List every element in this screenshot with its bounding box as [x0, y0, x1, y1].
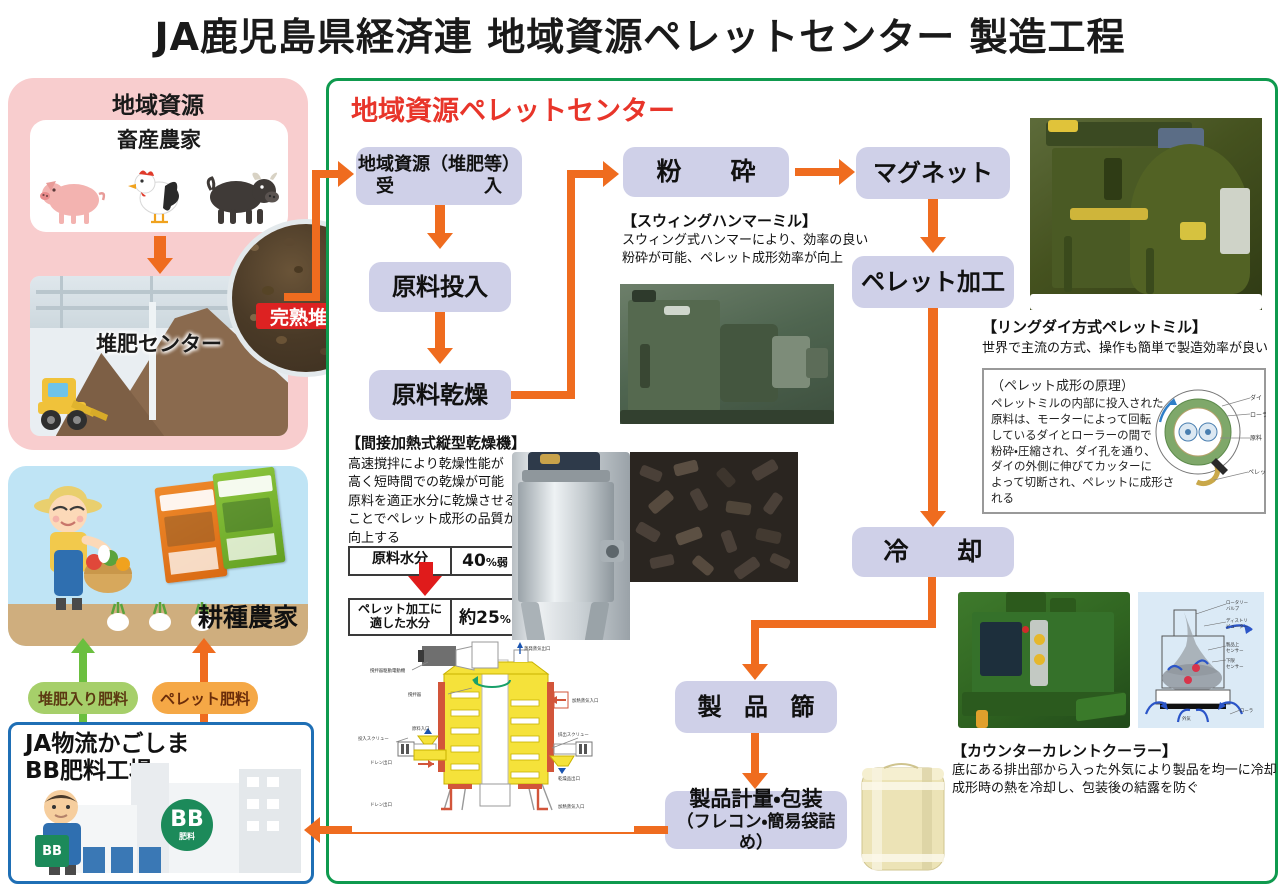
process-crush-label: 粉 砕: [644, 157, 767, 187]
arrow-pellet-fert-head: [192, 638, 216, 653]
moisture-row-target: ペレット加工に適した水分 約25%: [348, 598, 520, 636]
pellet-mill-heading: 【リングダイ方式ペレットミル】: [982, 316, 1207, 337]
schem-label-agitator: 撹拌器: [408, 691, 422, 698]
dryer-body-line4: ことでペレット成形の品質が: [348, 511, 524, 529]
process-box-magnet[interactable]: マグネット: [856, 147, 1010, 199]
arrow-dry-to-crush-head: [603, 161, 619, 187]
dryer-body-line3: 原料を適正水分に乾燥させる: [348, 493, 524, 511]
page-title: JA鹿児島県経済連 地域資源ペレットセンター 製造工程: [0, 6, 1280, 61]
moisture-target-label: ペレット加工に適した水分: [350, 600, 450, 634]
svg-text:ロータリー: ロータリー: [1226, 599, 1248, 606]
cow-icon: [202, 170, 280, 226]
diagram-label-die: ダイ: [1250, 394, 1262, 402]
farmer-icon: [20, 480, 132, 612]
process-box-pack[interactable]: 製品計量・包装 （フレコン・簡易袋詰め）: [665, 791, 847, 849]
wheel-loader-icon: [36, 360, 122, 432]
arrow-cool-to-screen-v1: [928, 577, 936, 624]
schem-label-steam-inlet2: 加熱蒸気入口: [558, 803, 584, 810]
svg-text:製品上: 製品上: [1226, 641, 1240, 648]
arrow-screen-to-pack-stem: [751, 733, 759, 775]
cooler-schematic: ロータリーバルブ ディストリビューター 製品上センサー 下限センサー ローラ 外…: [1138, 592, 1264, 728]
moisture-target-value: 約25%: [450, 600, 518, 634]
svg-text:下限: 下限: [1226, 657, 1235, 664]
process-magnet-label: マグネット: [873, 159, 993, 188]
diagram-label-material: 原料: [1250, 434, 1262, 442]
principle-line5: ダイの外側に伸びてカッターに: [991, 459, 1175, 475]
process-receive-line1: 地域資源（堆肥等）: [358, 154, 520, 176]
principle-line1: ペレットミルの内部に投入された: [991, 396, 1175, 412]
svg-text:バルブ: バルブ: [1226, 605, 1240, 612]
svg-text:ローラ: ローラ: [1240, 708, 1253, 714]
process-dry-label: 原料乾燥: [392, 381, 488, 410]
arrow-pack-to-factory-head: [304, 817, 320, 843]
bb-logo: BB 肥料: [161, 799, 213, 851]
svg-text:センサー: センサー: [1226, 648, 1244, 654]
process-pack-line1: 製品計量・包装: [689, 787, 822, 812]
animal-icon-group: [30, 152, 288, 226]
pig-icon: [38, 170, 110, 226]
bb-factory-title-line1: JA物流かごしま: [25, 731, 189, 758]
arrow-livestock-to-compost-stem: [154, 236, 166, 260]
svg-text:外気: 外気: [1182, 715, 1191, 722]
arrow-crush-to-magnet-stem: [795, 168, 839, 176]
arrow-charge-to-dry-stem: [435, 312, 445, 350]
moisture-raw-value: 40%弱: [450, 548, 518, 574]
svg-text:センサー: センサー: [1226, 664, 1244, 670]
hammer-mill-body: スウィング式ハンマーにより、効率の良い 粉砕が可能、ペレット成形効率が向上: [622, 232, 868, 269]
diagram-label-roller: ローラー: [1250, 412, 1266, 419]
crop-farmer-panel: 耕種農家: [8, 466, 308, 646]
livestock-farmer-card: 畜産農家: [30, 120, 288, 232]
arrow-dry-to-crush-v: [567, 170, 575, 399]
process-box-charge[interactable]: 原料投入: [369, 262, 511, 312]
arrow-charge-to-dry-head: [427, 348, 453, 364]
moisture-row-raw: 原料水分 40%弱: [348, 546, 520, 576]
hammer-mill-body-line1: スウィング式ハンマーにより、効率の良い: [622, 232, 868, 250]
dryer-heading: 【間接加熱式縦型乾燥機】: [346, 432, 526, 453]
pellet-center-title: 地域資源ペレットセンター: [351, 89, 675, 128]
livestock-farmer-label: 畜産農家: [30, 124, 288, 154]
arrow-dry-to-crush-h: [511, 391, 575, 399]
principle-line2: 原料は、モーターによって回転: [991, 412, 1175, 428]
dryer-body-line2: 高く短時間での乾燥が可能: [348, 474, 524, 492]
dryer-photo: [512, 452, 630, 644]
diagram-label-pellet: ペレット: [1248, 469, 1266, 476]
moisture-red-arrow-head: [408, 576, 442, 596]
arrow-pellet-to-cool-stem: [928, 308, 938, 513]
arrow-receive-to-charge-head: [427, 233, 453, 249]
pill-pellet-fertilizer: ペレット肥料: [152, 682, 258, 714]
arrow-compost-to-center-v: [312, 170, 320, 301]
chicken-icon: [125, 166, 187, 226]
schem-label-infeed-screw: 投入スクリュー: [358, 735, 389, 742]
crop-farmer-label: 耕種農家: [198, 598, 298, 634]
svg-text:BB: BB: [42, 844, 62, 859]
schem-label-vapor-outlet: 蒸発蒸気出口: [524, 645, 550, 652]
schem-label-material-inlet: 原料入口: [412, 725, 430, 732]
bb-fertilizer-factory-panel: JA物流かごしま BB肥料工場 BB 肥料 BB: [8, 722, 314, 884]
principle-line4: 粉砕・圧縮され、ダイ孔を通り、: [991, 444, 1175, 460]
process-pack-line2: （フレコン・簡易袋詰め）: [665, 812, 847, 853]
process-box-crush[interactable]: 粉 砕: [623, 147, 789, 197]
arrow-livestock-to-compost-head: [147, 258, 173, 274]
bb-logo-main: BB: [170, 809, 204, 831]
schem-label-steam-inlet1: 加熱蒸気入口: [572, 697, 598, 704]
pellet-mill-photo: [1030, 118, 1262, 310]
local-resources-title: 地域資源: [8, 86, 308, 120]
process-cool-label: 冷 却: [871, 537, 994, 567]
hammer-mill-heading: 【スウィングハンマーミル】: [622, 210, 817, 231]
schem-label-outfeed-screw: 排出スクリュー: [558, 731, 589, 738]
schem-label-motor: 撹拌器駆動電動機: [370, 667, 406, 674]
pellet-mill-body-line1: 世界で主流の方式、操作も簡単で製造効率が良い: [982, 340, 1268, 358]
principle-line3: しているダイとローラーの間で: [991, 428, 1175, 444]
arrow-cool-to-screen-h: [751, 620, 936, 628]
cooler-body-line2: 成形時の熱を冷却し、包装後の結露を防ぐ: [952, 780, 1277, 798]
hammer-mill-photo: [620, 284, 834, 424]
schem-label-drain1: ドレン出口: [370, 759, 392, 766]
arrow-cool-to-screen-v2: [751, 620, 759, 666]
arrow-magnet-to-pellet-head: [920, 237, 946, 253]
pellet-product-photo: [630, 452, 798, 582]
dryer-body-line1: 高速撹拌により乾燥性能が: [348, 456, 524, 474]
cooler-body-line1: 底にある排出部から入った外気により製品を均一に冷却: [952, 762, 1277, 780]
arrow-cool-to-screen-head: [742, 664, 768, 680]
arrow-magnet-to-pellet-stem: [928, 199, 938, 239]
cooler-photo: [958, 592, 1130, 728]
svg-text:ディストリ: ディストリ: [1226, 617, 1248, 624]
process-box-receive[interactable]: 地域資源（堆肥等） 受 入: [356, 147, 522, 205]
arrow-dry-to-crush-h2: [567, 170, 603, 178]
arrow-receive-to-charge-stem: [435, 205, 445, 235]
process-box-cool[interactable]: 冷 却: [852, 527, 1014, 577]
schem-label-drain2: ドレン出口: [370, 801, 392, 808]
process-box-pelletize[interactable]: ペレット加工: [852, 256, 1014, 308]
schem-label-dry-outlet: 乾燥品出口: [558, 775, 580, 782]
process-receive-line2: 受 入: [367, 176, 511, 198]
arrow-compost-to-center-h2: [312, 170, 338, 178]
process-box-dry[interactable]: 原料乾燥: [369, 370, 511, 420]
pellet-principle-box: （ペレット成形の原理） ペレットミルの内部に投入された 原料は、モーターによって…: [982, 368, 1266, 514]
ring-die-diagram: ダイ ローラー 原料 ペレット: [1152, 376, 1266, 508]
dryer-body: 高速撹拌により乾燥性能が 高く短時間での乾燥が可能 原料を適正水分に乾燥させる …: [348, 456, 524, 548]
moisture-table: 原料水分 40%弱 ペレット加工に適した水分 約25%: [348, 546, 520, 644]
pill-compost-fertilizer: 堆肥入り肥料: [28, 682, 138, 714]
process-charge-label: 原料投入: [392, 273, 488, 302]
worker-icon: BB: [27, 787, 105, 877]
process-screen-label: 製 品 篩: [691, 693, 822, 722]
pellet-mill-body: 世界で主流の方式、操作も簡単で製造効率が良い: [982, 340, 1268, 358]
process-pelletize-label: ペレット加工: [861, 268, 1005, 297]
bb-logo-sub: 肥料: [179, 833, 195, 841]
cooler-body: 底にある排出部から入った外気により製品を均一に冷却 成形時の熱を冷却し、包装後の…: [952, 762, 1277, 799]
arrow-crush-to-magnet-head: [839, 159, 855, 185]
moisture-raw-label: 原料水分: [350, 548, 450, 574]
arrow-compost-fert-head: [71, 638, 95, 653]
principle-line6: よって切断され、ペレットに成形される: [991, 475, 1175, 507]
hammer-mill-body-line2: 粉砕が可能、ペレット成形効率が向上: [622, 250, 868, 268]
arrow-pellet-fert-stem-top: [200, 652, 208, 682]
cooler-heading: 【カウンターカレントクーラー】: [952, 740, 1177, 761]
arrow-compost-to-center-head: [338, 161, 354, 187]
pellet-principle-text: ペレットミルの内部に投入された 原料は、モーターによって回転 しているダイとロー…: [991, 396, 1175, 507]
arrow-pellet-to-cool-head: [920, 511, 946, 527]
dryer-schematic: 撹拌器駆動電動機 撹拌器 投入スクリュー 原料入口 ドレン出口 ドレン出口 蒸発…: [352, 640, 634, 832]
fertilizer-bag-right: [212, 467, 285, 570]
flexible-container-bag-photo: [856, 762, 950, 874]
process-box-screen[interactable]: 製 品 篩: [675, 681, 837, 733]
arrow-compost-fert-stem-top: [79, 652, 87, 682]
svg-text:ビューター: ビューター: [1226, 623, 1248, 630]
